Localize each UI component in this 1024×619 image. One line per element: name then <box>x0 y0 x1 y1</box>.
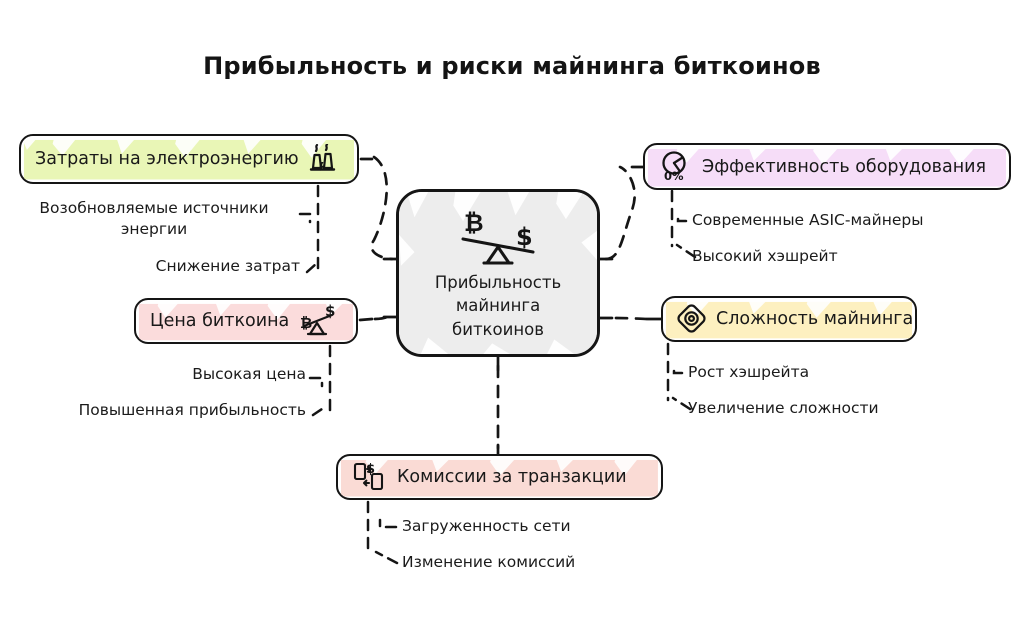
branch-equip-1 <box>678 213 686 221</box>
pie-chart-percent-label: 0% <box>664 169 684 183</box>
branch-label-equipment: Эффективность оборудования <box>702 157 986 177</box>
branch-fees-2 <box>376 552 397 563</box>
sub-item-price-2: Повышенная прибыльность <box>8 400 306 421</box>
center-label-line-1: Прибыльность <box>435 271 561 294</box>
sub-item-difficulty-2: Увеличение сложности <box>688 398 879 419</box>
center-label-line-3: биткоинов <box>435 318 561 341</box>
sub-item-price-1: Высокая цена <box>60 364 306 385</box>
sub-item-difficulty-1: Рост хэшрейта <box>688 362 809 383</box>
branch-node-fees[interactable]: $ Комиссии за транзакции <box>336 454 663 500</box>
branch-node-energy[interactable]: Затраты на электроэнергию <box>19 134 359 184</box>
svg-text:₿: ₿ <box>300 314 312 332</box>
sub-item-equipment-1: Современные ASIC-майнеры <box>692 210 923 231</box>
branch-label-fees: Комиссии за транзакции <box>397 467 627 487</box>
mobile-money-transfer-icon: $ <box>352 460 388 494</box>
branch-price-2 <box>313 407 325 415</box>
svg-text:$: $ <box>366 462 375 477</box>
branch-label-difficulty: Сложность майнинга <box>716 309 913 329</box>
wire-equip-curve <box>606 167 635 259</box>
sub-item-energy-1: Возобновляемые источники энергии <box>12 198 296 239</box>
svg-text:$: $ <box>325 304 335 320</box>
branch-fees-1 <box>380 520 396 527</box>
branch-node-price[interactable]: Цена биткоина ₿ $ <box>134 298 358 344</box>
center-node[interactable]: ₿ $ Прибыльность майнинга биткоинов <box>396 189 600 357</box>
branch-node-equipment[interactable]: 0% Эффективность оборудования <box>643 143 1011 190</box>
branch-node-energy-inner: Затраты на электроэнергию <box>35 144 343 174</box>
pie-chart-percent-icon: 0% <box>659 150 693 184</box>
power-plant-icon <box>308 144 338 174</box>
branch-label-price: Цена биткоина <box>150 311 289 331</box>
branch-price-1 <box>310 378 322 386</box>
branch-label-energy: Затраты на электроэнергию <box>35 149 299 169</box>
sub-item-fees-2: Изменение комиссий <box>402 552 575 573</box>
branch-energy-2 <box>307 264 316 272</box>
branch-node-price-inner: Цена биткоина ₿ $ <box>150 304 342 338</box>
center-label-line-2: майнинга <box>435 294 561 317</box>
balance-scale-bitcoin-dollar-icon: ₿ $ <box>298 304 338 338</box>
wire-diff-curve <box>616 318 650 319</box>
sub-item-energy-2: Снижение затрат <box>60 256 300 277</box>
branch-node-difficulty[interactable]: Сложность майнинга <box>661 296 917 342</box>
branch-diff-1 <box>674 365 682 373</box>
sub-item-fees-1: Загруженность сети <box>402 516 571 537</box>
dollar-symbol: $ <box>516 223 533 251</box>
bitcoin-symbol: ₿ <box>464 209 484 237</box>
branch-energy-1 <box>300 214 310 222</box>
branch-node-difficulty-inner: Сложность майнинга <box>677 304 901 334</box>
balance-scale-bitcoin-dollar-icon: ₿ $ <box>450 205 546 267</box>
branch-node-fees-inner: $ Комиссии за транзакции <box>352 460 647 494</box>
diamond-target-icon <box>677 304 707 334</box>
wire-energy-curve <box>372 157 392 259</box>
sub-item-equipment-2: Высокий хэшрейт <box>692 246 838 267</box>
mindmap-canvas: Прибыльность и риски майнинга биткоинов <box>0 0 1024 619</box>
center-node-body: ₿ $ Прибыльность майнинга биткоинов <box>435 205 561 341</box>
wire-price-stub <box>360 319 372 320</box>
branch-node-equipment-inner: 0% Эффективность оборудования <box>659 150 995 184</box>
